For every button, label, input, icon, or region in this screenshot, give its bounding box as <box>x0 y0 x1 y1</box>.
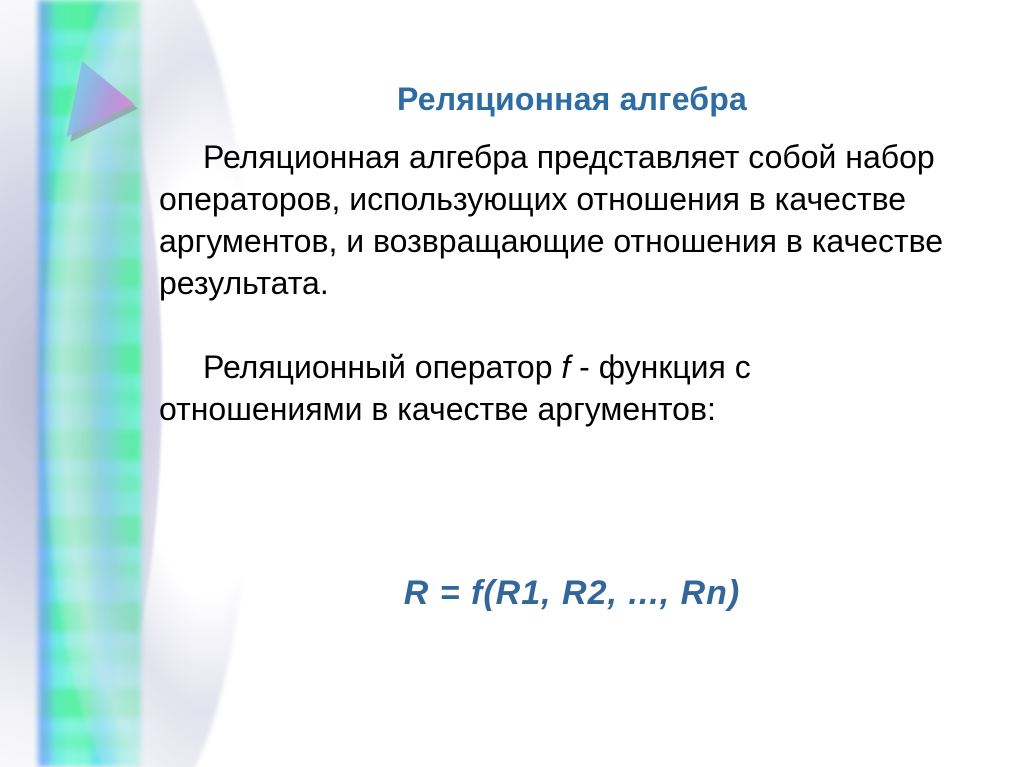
definition-line-4: аргументов, и возвращающие <box>159 223 604 259</box>
operator-line-prefix: Реляционный оператор <box>203 349 561 385</box>
operator-line-2: отношениями в качестве аргументов: <box>159 391 716 427</box>
decoration-column <box>0 0 175 767</box>
definition-line-1: Реляционная алгебра представляет <box>203 139 739 175</box>
paragraph-spacer <box>159 304 959 346</box>
slide-content: Реляционная алгебра Реляционная алгебра … <box>150 0 1024 767</box>
definition-line-3: использующих отношения в качестве <box>349 181 906 217</box>
operator-line-suffix: - функция с <box>570 349 751 385</box>
slide: Реляционная алгебра Реляционная алгебра … <box>0 0 1024 767</box>
paragraph-operator: Реляционный оператор f - функция с отнош… <box>159 346 959 430</box>
page-title: Реляционная алгебра <box>150 81 994 118</box>
formula-expression: R = f(R1, R2, ..., Rn) <box>150 574 994 613</box>
paragraph-definition: Реляционная алгебра представляет собой н… <box>159 136 959 304</box>
operator-symbol: f <box>561 349 570 385</box>
body-text-block: Реляционная алгебра представляет собой н… <box>159 136 959 430</box>
